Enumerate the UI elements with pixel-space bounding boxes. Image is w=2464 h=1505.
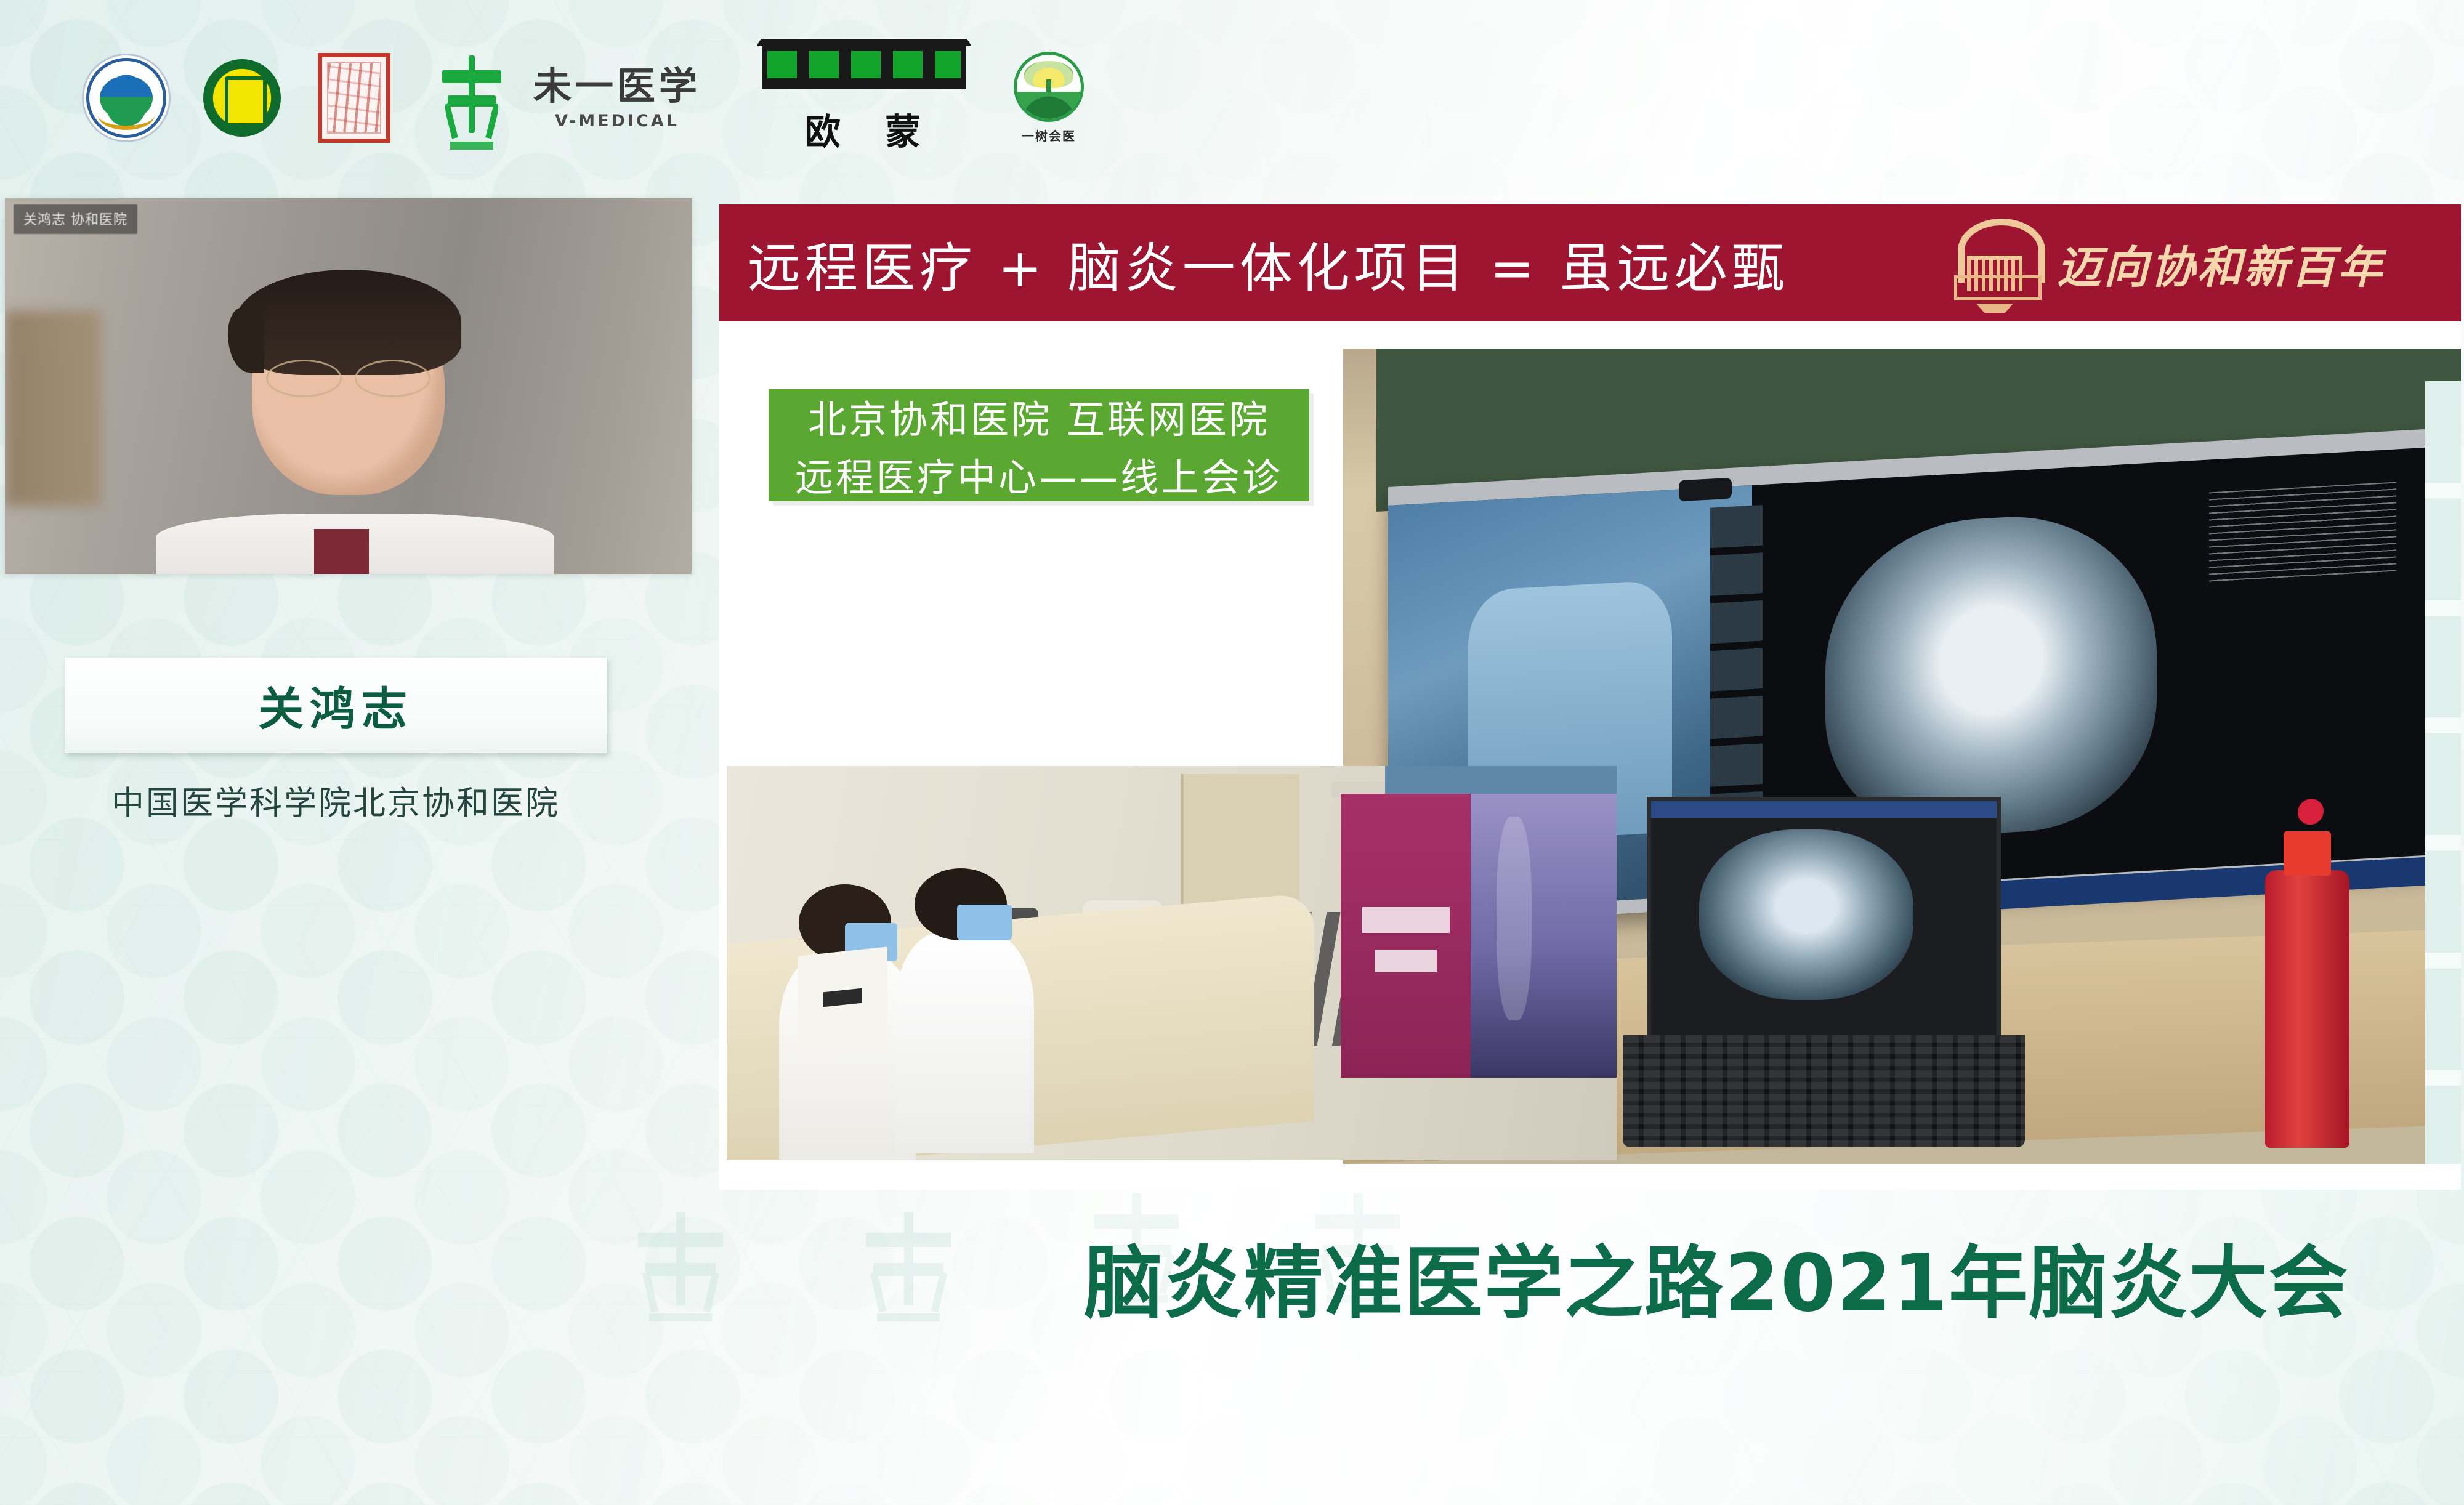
logo-v-medical-wordmark: 未一医学 V-MEDICAL (533, 67, 701, 129)
wall-display-screens (1341, 794, 1617, 1078)
sponsor-logo-bar: 未一医学 V-MEDICAL 欧 蒙 一树会医 (0, 0, 2464, 196)
v-medical-chinese-name: 未一医学 (533, 67, 701, 105)
green-caption-line-2: 远程医疗中心——线上会诊 (795, 446, 1283, 502)
logo-euroimmun: 欧 蒙 (762, 41, 966, 155)
logo-v-medical-mark (438, 52, 505, 144)
desk-document (798, 946, 887, 1059)
slide-title-text: 远程医疗 + 脑炎一体化项目 = 虽远必甄 (748, 225, 1788, 302)
video-name-overlay: 关鸿志 协和医院 (14, 204, 137, 234)
laptop-with-mri (1623, 797, 2025, 1147)
logo-red-square-chinese-seal (318, 53, 390, 143)
logo-green-gold-institute-seal (203, 59, 281, 137)
speaker-hair (235, 270, 462, 375)
speaker-name-plate: 关鸿志 (65, 658, 607, 753)
video-door-blur (5, 311, 101, 506)
speaker-name: 关鸿志 (258, 672, 413, 738)
conference-camera-icon (1679, 478, 1732, 502)
euroimmun-bar-icon (762, 41, 966, 89)
photo-right-edge-panel (2425, 381, 2461, 1164)
watermark-wei-logo-2 (862, 1207, 955, 1324)
doctor-back (905, 868, 1029, 1144)
slide-green-caption-box: 北京协和医院 互联网医院 远程医疗中心——线上会诊 (769, 389, 1309, 501)
speaker-necktie (314, 529, 369, 574)
banner-slogan-text: 迈向协和新百年 (2057, 231, 2385, 296)
cma-seal-icon (86, 58, 166, 138)
logo-tree-circle: 一树会医 (1015, 52, 1083, 144)
slide-title-banner: 远程医疗 + 脑炎一体化项目 = 虽远必甄 迈向协和新百年 (719, 204, 2461, 321)
recording-indicator-icon (2298, 799, 2324, 826)
green-caption-line-1: 北京协和医院 互联网医院 (808, 389, 1270, 444)
tree-circle-icon (1014, 52, 1084, 122)
screen-left-slide (1341, 794, 1471, 1078)
euroimmun-chinese-name: 欧 蒙 (805, 103, 937, 155)
v-medical-english-name: V-MEDICAL (555, 113, 679, 129)
red-water-bottle (2265, 870, 2349, 1147)
watermark-wei-logo-1 (634, 1207, 727, 1324)
logo-chinese-medical-association-seal (86, 58, 166, 138)
banner-branding: 迈向协和新百年 (1949, 217, 2440, 309)
wei-character-icon (438, 52, 505, 144)
dicom-text-overlay (2209, 482, 2396, 582)
speaker-video-tile[interactable]: 关鸿志 协和医院 (5, 198, 692, 574)
tree-logo-caption: 一树会医 (1022, 126, 1076, 144)
red-stamp-icon (318, 53, 390, 143)
institute-seal-icon (203, 59, 281, 137)
speaker-affiliation: 中国医学科学院北京协和医院 (65, 777, 607, 824)
doctors-online-consultation-photo (727, 766, 1617, 1160)
speaker-glasses-icon (266, 360, 431, 393)
presentation-slide[interactable]: 远程医疗 + 脑炎一体化项目 = 虽远必甄 迈向协和新百年 北京协和医院 互联网… (719, 204, 2461, 1190)
screen-right-feed (1471, 794, 1617, 1078)
pumch-gate-icon (1949, 217, 2041, 309)
conference-title: 脑炎精准医学之路2021年脑炎大会 (1084, 1219, 2414, 1333)
photo-overlap-inset (1385, 766, 1617, 794)
